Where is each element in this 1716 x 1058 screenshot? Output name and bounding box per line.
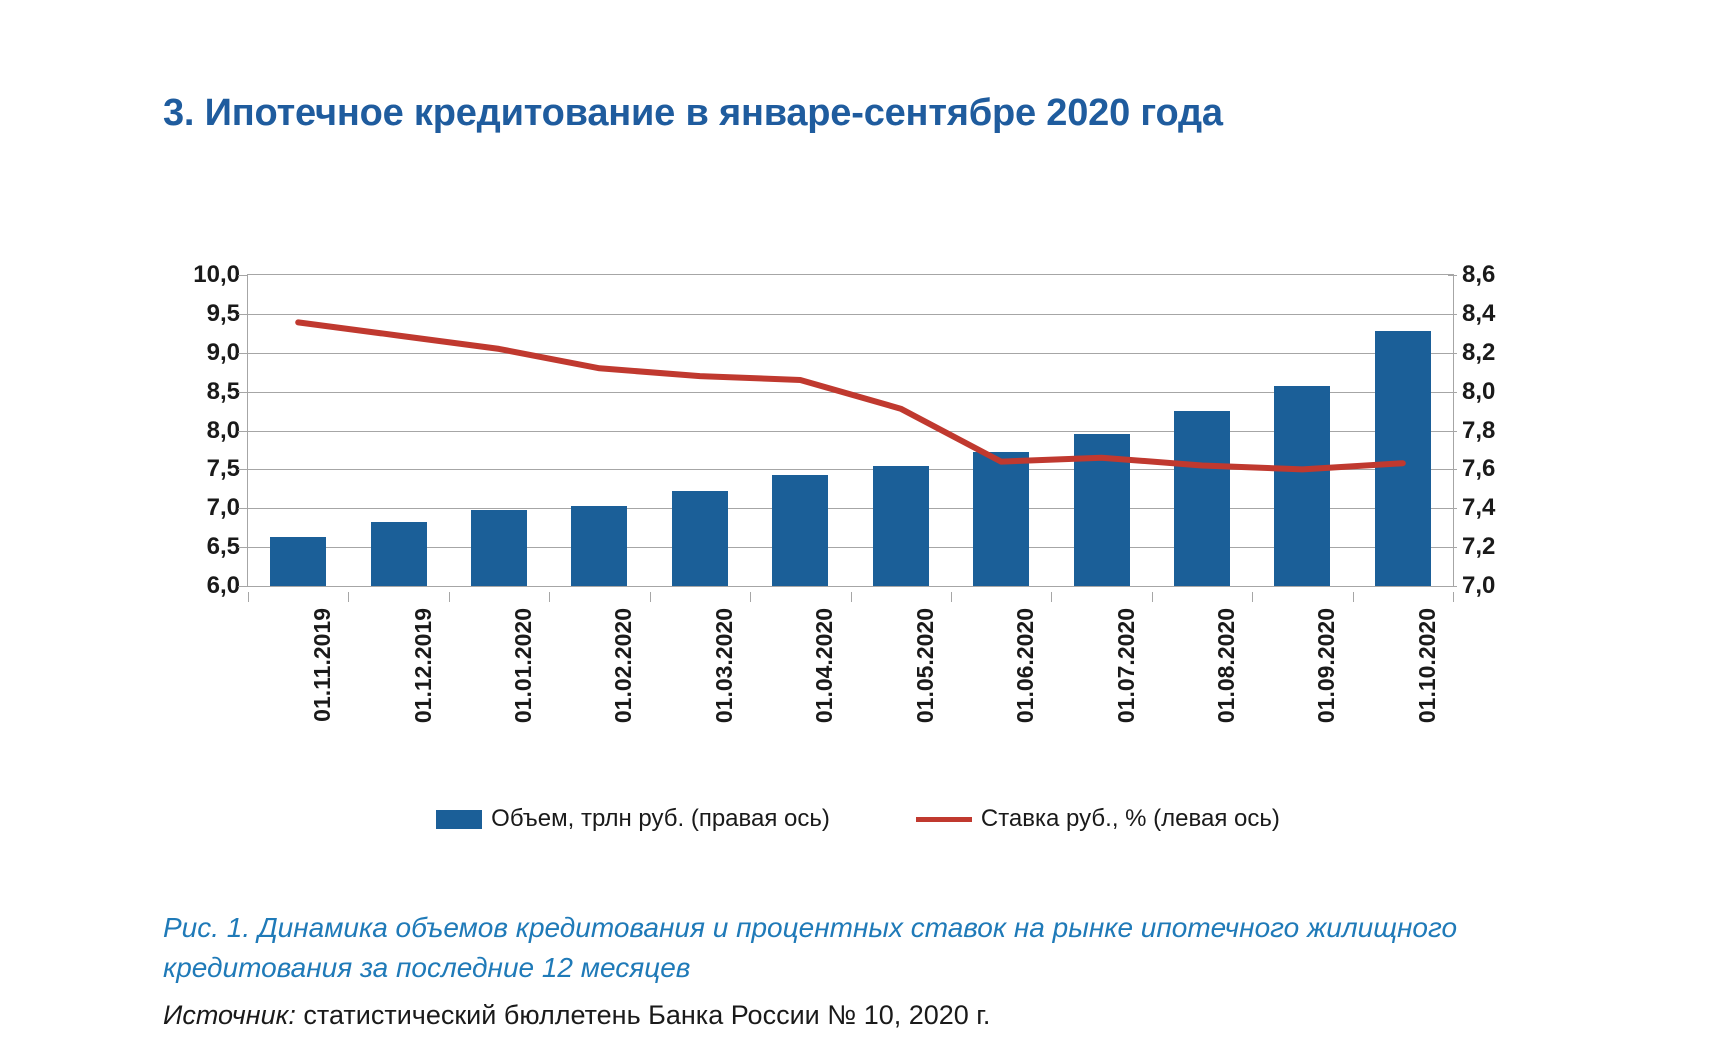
y-tick-right: 8,4 <box>1462 302 1495 326</box>
line-series <box>248 275 1453 586</box>
y-tick-left: 10,0 <box>193 263 240 287</box>
y-tickmark-left <box>238 469 247 470</box>
y-axis-left: 10,09,59,08,58,07,57,06,56,0 <box>160 258 240 603</box>
legend-label-volume: Объем, трлн руб. (правая ось) <box>491 805 830 833</box>
rate-line-path <box>298 322 1403 469</box>
y-tick-right: 7,8 <box>1462 419 1495 443</box>
y-tickmark-left <box>238 508 247 509</box>
y-tickmark-left <box>238 314 247 315</box>
x-axis-label: 01.03.2020 <box>711 608 738 723</box>
y-tick-left: 8,0 <box>207 419 240 443</box>
chart-legend: Объем, трлн руб. (правая ось) Ставка руб… <box>0 805 1716 833</box>
x-axis-label: 01.01.2020 <box>510 608 537 723</box>
y-tick-right: 7,2 <box>1462 535 1495 559</box>
x-tickmark <box>750 592 751 602</box>
x-tickmark <box>348 592 349 602</box>
x-axis-label: 01.11.2019 <box>309 608 336 722</box>
legend-item-rate: Ставка руб., % (левая ось) <box>916 805 1280 833</box>
x-tickmark <box>1252 592 1253 602</box>
x-tickmark <box>449 592 450 602</box>
y-tick-left: 6,0 <box>207 574 240 598</box>
chart-figure: 10,09,59,08,58,07,57,06,56,0 8,68,48,28,… <box>0 0 1716 1058</box>
figure-caption: Рис. 1. Динамика объемов кредитования и … <box>163 908 1543 988</box>
x-axis-label: 01.08.2020 <box>1213 608 1240 723</box>
y-tickmark-left <box>238 586 247 587</box>
x-tickmark <box>1353 592 1354 602</box>
x-axis-label: 01.02.2020 <box>610 608 637 723</box>
y-tickmark-left <box>238 431 247 432</box>
x-axis-label: 01.09.2020 <box>1313 608 1340 723</box>
y-tickmark-left <box>238 353 247 354</box>
y-tick-left: 7,5 <box>207 457 240 481</box>
x-tickmark <box>1453 592 1454 602</box>
x-axis-labels: 01.11.201901.12.201901.01.202001.02.2020… <box>248 592 1453 742</box>
y-tick-right: 8,0 <box>1462 380 1495 404</box>
x-axis-label: 01.05.2020 <box>912 608 939 723</box>
y-tickmark-left <box>238 275 247 276</box>
y-tick-right: 7,0 <box>1462 574 1495 598</box>
y-tick-right: 8,6 <box>1462 263 1495 287</box>
y-tick-left: 9,5 <box>207 302 240 326</box>
y-tick-right: 7,4 <box>1462 496 1495 520</box>
y-tickmark-left <box>238 547 247 548</box>
x-tickmark <box>1152 592 1153 602</box>
legend-label-rate: Ставка руб., % (левая ось) <box>981 805 1280 833</box>
source-lead: Источник: <box>163 1000 296 1030</box>
x-tickmark <box>951 592 952 602</box>
x-tickmark <box>248 592 249 602</box>
x-tickmark <box>851 592 852 602</box>
y-tickmark-right <box>1448 586 1457 587</box>
x-axis-label: 01.10.2020 <box>1414 608 1441 723</box>
x-axis-label: 01.06.2020 <box>1012 608 1039 723</box>
source-rest: статистический бюллетень Банка России № … <box>296 1000 990 1030</box>
x-tickmark <box>549 592 550 602</box>
x-axis-label: 01.12.2019 <box>410 608 437 723</box>
y-tick-left: 8,5 <box>207 380 240 404</box>
y-axis-right: 8,68,48,28,07,87,67,47,27,0 <box>1462 263 1542 608</box>
x-tickmark <box>650 592 651 602</box>
x-axis-label: 01.04.2020 <box>811 608 838 723</box>
line-swatch-icon <box>916 817 972 822</box>
y-tick-right: 7,6 <box>1462 457 1495 481</box>
y-tick-left: 7,0 <box>207 496 240 520</box>
y-tick-left: 9,0 <box>207 341 240 365</box>
y-tick-left: 6,5 <box>207 535 240 559</box>
y-tickmark-left <box>238 392 247 393</box>
x-tickmark <box>1051 592 1052 602</box>
x-axis-label: 01.07.2020 <box>1113 608 1140 723</box>
y-tick-right: 8,2 <box>1462 341 1495 365</box>
bar-swatch-icon <box>436 810 482 829</box>
figure-source: Источник: статистический бюллетень Банка… <box>163 1000 1543 1031</box>
legend-item-volume: Объем, трлн руб. (правая ось) <box>436 805 830 833</box>
